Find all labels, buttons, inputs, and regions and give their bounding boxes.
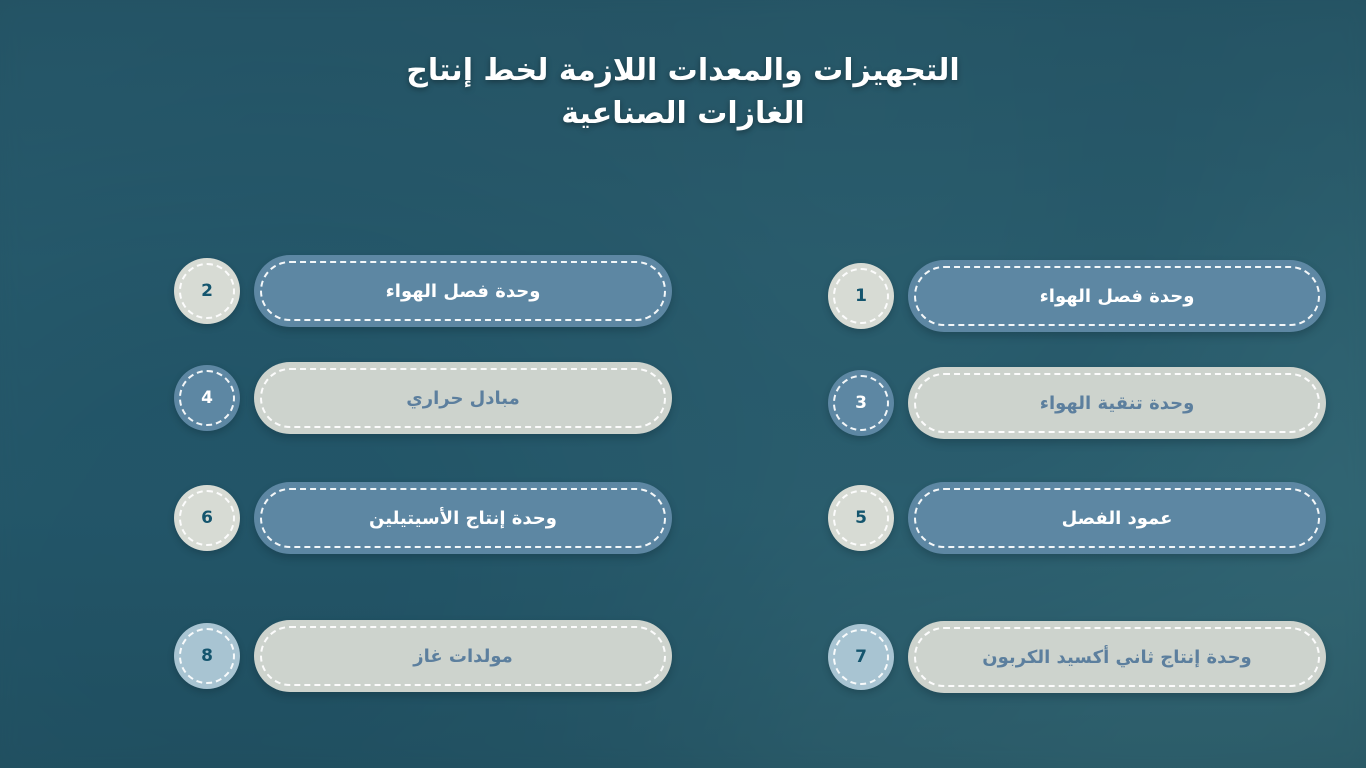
item-label-5: عمود الفصل xyxy=(1040,508,1195,529)
item-pill-3[interactable]: وحدة تنقية الهواء xyxy=(908,367,1326,439)
page-title: التجهيزات والمعدات اللازمة لخط إنتاج الغ… xyxy=(0,50,1366,135)
list-item[interactable]: وحدة فصل الهواء 1 xyxy=(828,258,1326,334)
page-title-line-2: الغازات الصناعية xyxy=(300,93,1066,136)
item-number-badge-7[interactable]: 7 xyxy=(828,624,894,690)
infographic-slide: التجهيزات والمعدات اللازمة لخط إنتاج الغ… xyxy=(0,0,1366,768)
item-number-5: 5 xyxy=(855,508,867,528)
item-number-4: 4 xyxy=(201,388,213,408)
item-label-3: وحدة تنقية الهواء xyxy=(1018,393,1217,414)
item-number-3: 3 xyxy=(855,393,867,413)
page-title-line-1: التجهيزات والمعدات اللازمة لخط إنتاج xyxy=(300,50,1066,93)
column-left: وحدة فصل الهواء 2 مبادل حراري 4 وحدة إنت… xyxy=(128,248,608,718)
item-number-7: 7 xyxy=(855,647,867,667)
item-pill-8[interactable]: مولدات غاز xyxy=(254,620,672,692)
item-label-1: وحدة فصل الهواء xyxy=(1018,286,1217,307)
item-pill-5[interactable]: عمود الفصل xyxy=(908,482,1326,554)
item-label-6: وحدة إنتاج الأسيتيلين xyxy=(347,508,579,529)
list-item[interactable]: وحدة فصل الهواء 2 xyxy=(174,253,672,329)
item-label-7: وحدة إنتاج ثاني أكسيد الكربون xyxy=(960,647,1273,668)
item-label-4: مبادل حراري xyxy=(384,388,542,409)
list-item[interactable]: وحدة إنتاج ثاني أكسيد الكربون 7 xyxy=(828,619,1326,695)
item-number-2: 2 xyxy=(201,281,213,301)
item-pill-2[interactable]: وحدة فصل الهواء xyxy=(254,255,672,327)
list-item[interactable]: وحدة تنقية الهواء 3 xyxy=(828,365,1326,441)
item-number-1: 1 xyxy=(855,286,867,306)
item-number-badge-8[interactable]: 8 xyxy=(174,623,240,689)
item-number-badge-4[interactable]: 4 xyxy=(174,365,240,431)
item-pill-1[interactable]: وحدة فصل الهواء xyxy=(908,260,1326,332)
item-label-2: وحدة فصل الهواء xyxy=(364,281,563,302)
item-pill-4[interactable]: مبادل حراري xyxy=(254,362,672,434)
item-number-badge-5[interactable]: 5 xyxy=(828,485,894,551)
item-number-8: 8 xyxy=(201,646,213,666)
item-number-badge-2[interactable]: 2 xyxy=(174,258,240,324)
list-item[interactable]: مبادل حراري 4 xyxy=(174,360,672,436)
column-right: وحدة فصل الهواء 1 وحدة تنقية الهواء 3 عم… xyxy=(782,248,1262,718)
item-number-badge-1[interactable]: 1 xyxy=(828,263,894,329)
item-pill-7[interactable]: وحدة إنتاج ثاني أكسيد الكربون xyxy=(908,621,1326,693)
item-number-badge-3[interactable]: 3 xyxy=(828,370,894,436)
list-item[interactable]: عمود الفصل 5 xyxy=(828,480,1326,556)
item-number-6: 6 xyxy=(201,508,213,528)
list-item[interactable]: وحدة إنتاج الأسيتيلين 6 xyxy=(174,480,672,556)
item-label-8: مولدات غاز xyxy=(391,646,535,667)
item-number-badge-6[interactable]: 6 xyxy=(174,485,240,551)
item-pill-6[interactable]: وحدة إنتاج الأسيتيلين xyxy=(254,482,672,554)
items-grid: وحدة فصل الهواء 1 وحدة تنقية الهواء 3 عم… xyxy=(0,248,1366,718)
list-item[interactable]: مولدات غاز 8 xyxy=(174,618,672,694)
